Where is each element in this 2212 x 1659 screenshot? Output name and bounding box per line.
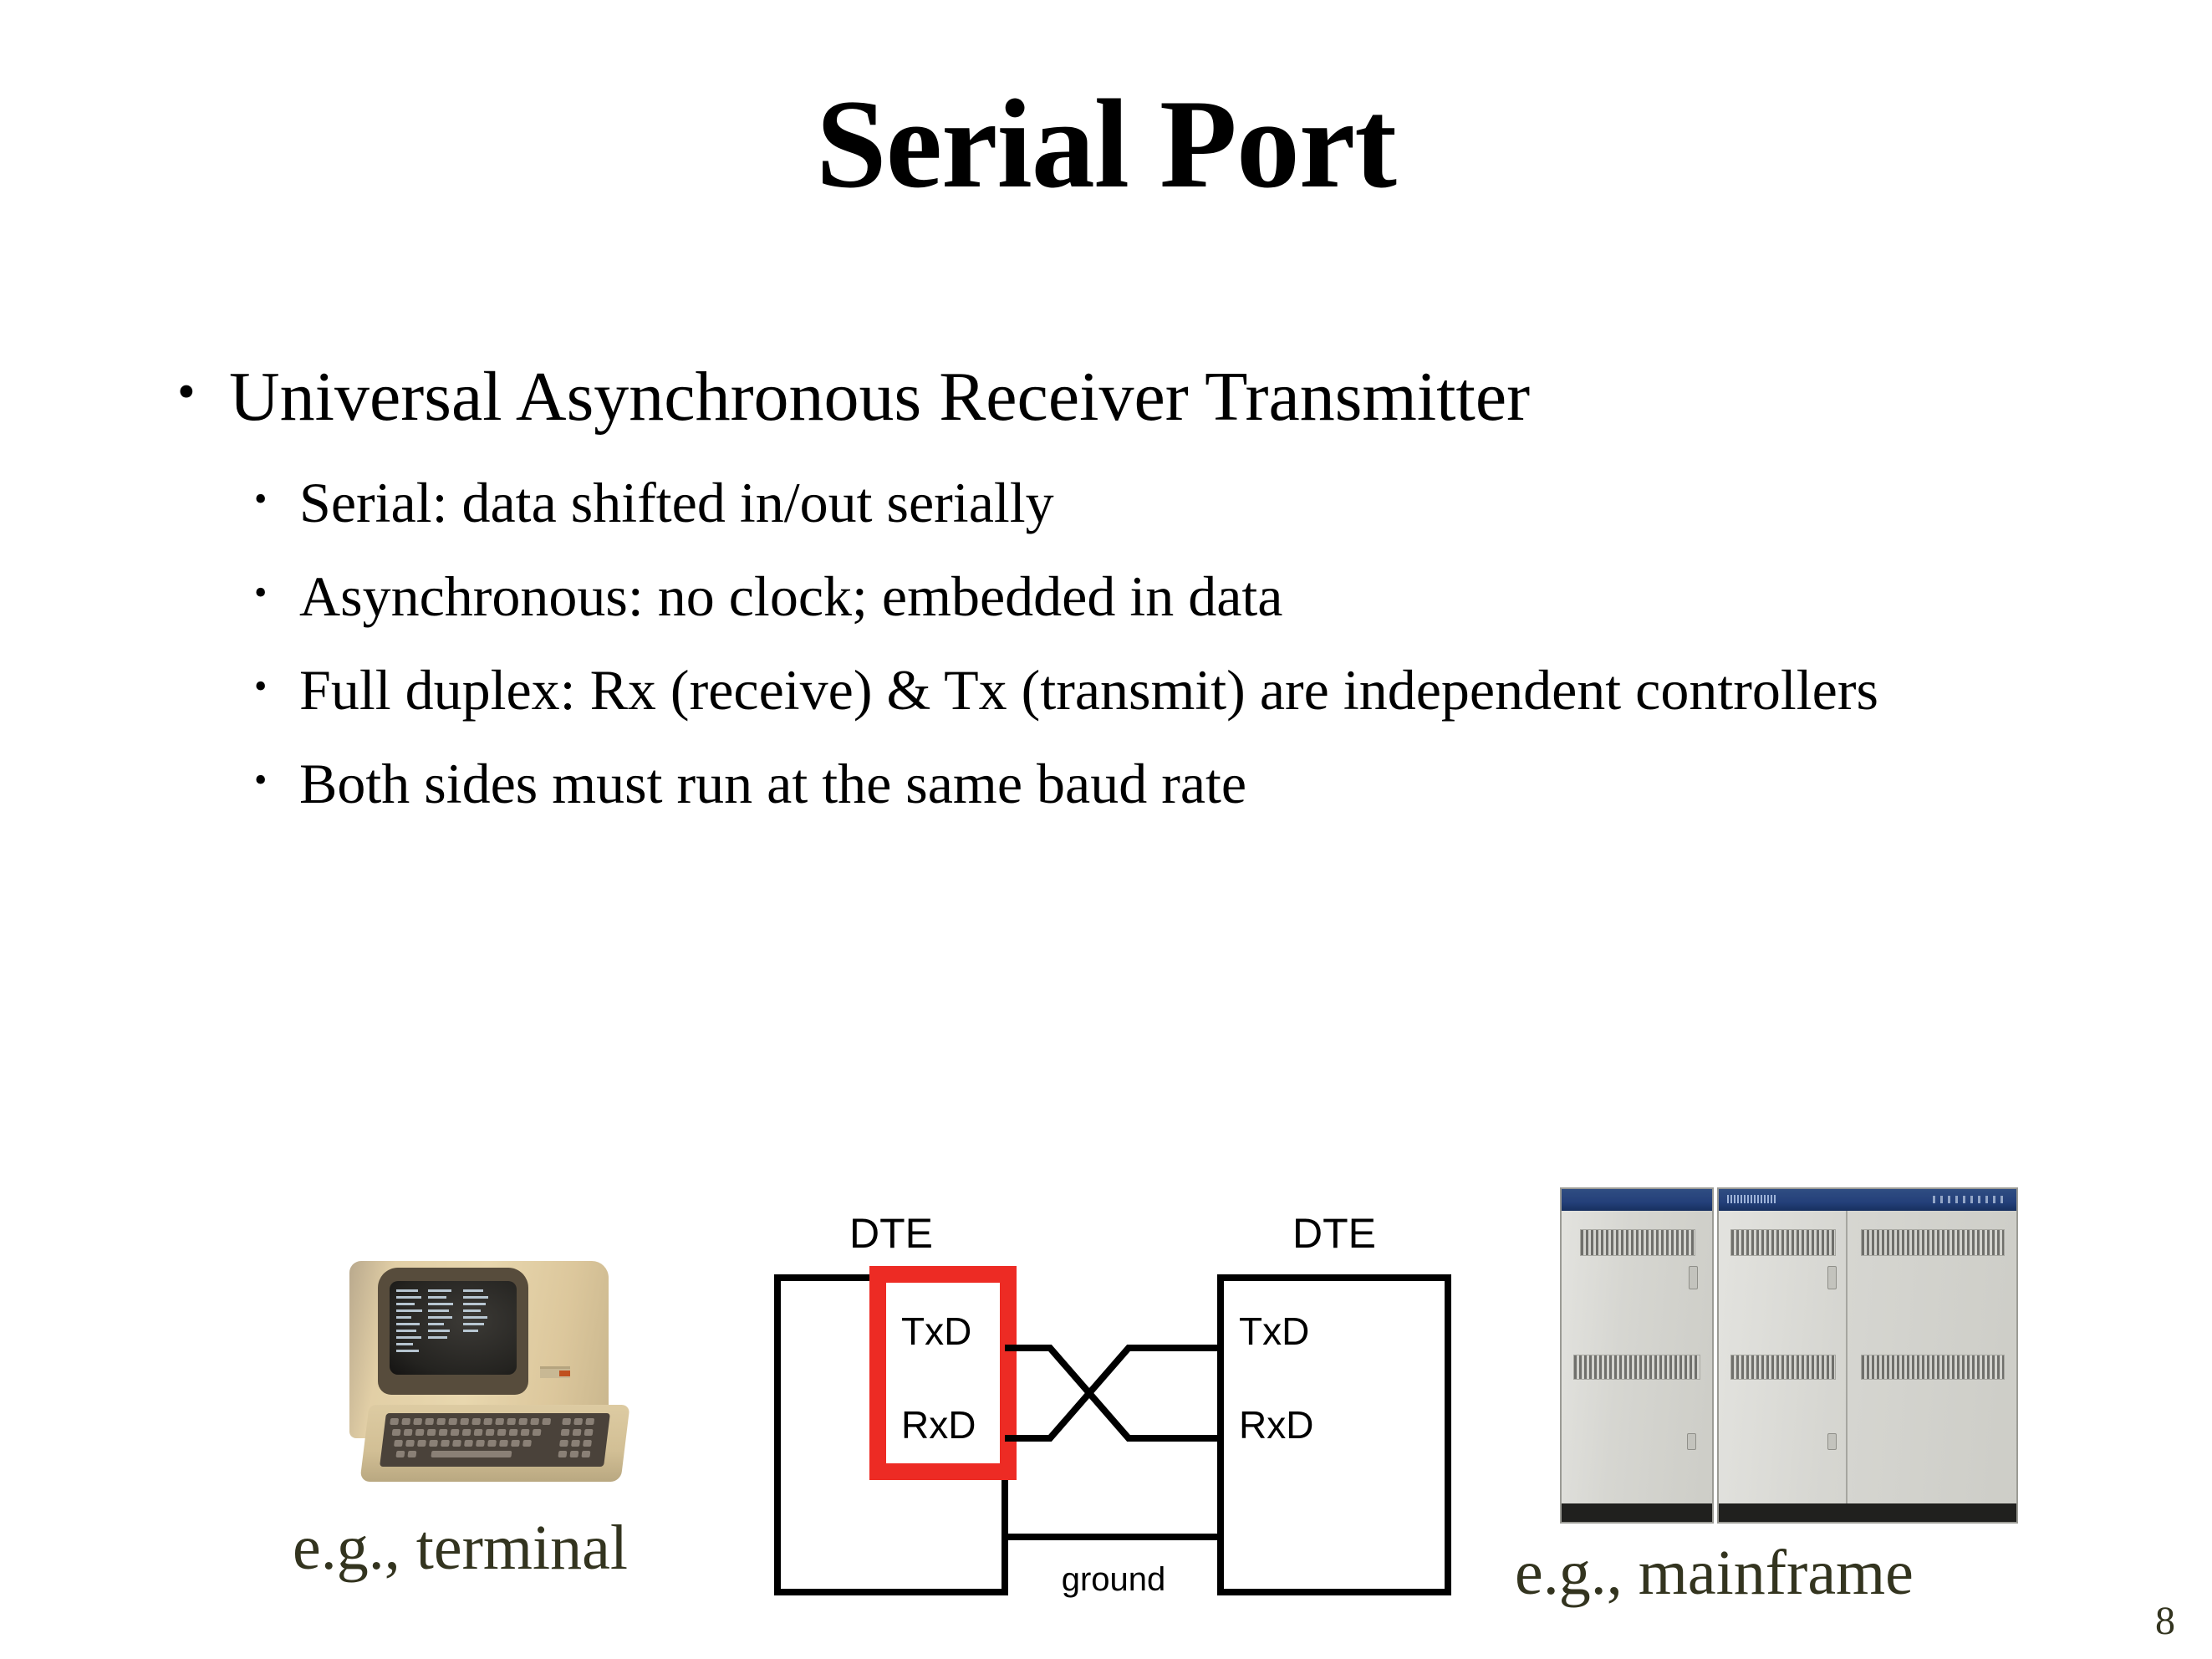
bullet-item-4: • Full duplex: Rx (receive) & Tx (transm…: [177, 658, 2117, 722]
page-title: Serial Port: [0, 80, 2212, 207]
diagram-left-rxd-label: RxD: [901, 1403, 976, 1447]
bullet-marker-icon: •: [254, 752, 299, 809]
bullet-list: • Universal Asynchronous Receiver Transm…: [177, 360, 2117, 845]
bullet-text: Both sides must run at the same baud rat…: [299, 752, 2117, 815]
terminal-keyboard: [380, 1413, 610, 1467]
bullet-text: Asynchronous: no clock; embedded in data: [299, 564, 2117, 628]
diagram-right-txd-label: TxD: [1239, 1309, 1309, 1353]
bullet-text: Universal Asynchronous Receiver Transmit…: [229, 360, 2117, 436]
bullet-item-1: • Universal Asynchronous Receiver Transm…: [177, 360, 2117, 436]
caption-terminal: e.g., terminal: [293, 1512, 628, 1585]
serial-connection-diagram: DTE DTE TxD RxD TxD RxD ground: [752, 1187, 1471, 1639]
terminal-image: [328, 1234, 662, 1510]
mainframe-base: [1562, 1503, 1712, 1522]
mainframe-door-handle: [1827, 1433, 1837, 1450]
page-number: 8: [2155, 1598, 2175, 1644]
mainframe-grille: [1861, 1229, 2005, 1256]
diagram-left-txd-label: TxD: [901, 1309, 971, 1353]
bullet-text: Full duplex: Rx (receive) & Tx (transmit…: [299, 658, 2117, 722]
mainframe-door-handle: [1827, 1266, 1837, 1289]
bullet-text: Serial: data shifted in/out serially: [299, 471, 2117, 534]
caption-mainframe: e.g., mainframe: [1515, 1537, 1914, 1610]
mainframe-grille: [1861, 1355, 2005, 1380]
status-leds: [1933, 1196, 2005, 1203]
mainframe-grille: [1730, 1355, 1836, 1380]
mainframe-cabinet-right: [1717, 1187, 2018, 1524]
mainframe-grille: [1580, 1229, 1695, 1256]
bullet-marker-icon: •: [177, 360, 229, 426]
diagram-left-box-title: DTE: [849, 1210, 933, 1257]
mainframe-door-handle: [1687, 1433, 1696, 1450]
terminal-screen: [390, 1281, 517, 1375]
bullet-item-5: • Both sides must run at the same baud r…: [177, 752, 2117, 815]
mainframe-top-panel: [1719, 1189, 2016, 1211]
diagram-right-rxd-label: RxD: [1239, 1403, 1313, 1447]
bullet-item-2: • Serial: data shifted in/out serially: [177, 471, 2117, 534]
diagram-right-box-title: DTE: [1292, 1210, 1376, 1257]
bullet-item-3: • Asynchronous: no clock; embedded in da…: [177, 564, 2117, 628]
mainframe-image: [1560, 1187, 2018, 1537]
mainframe-base: [1719, 1503, 2016, 1522]
bullet-marker-icon: •: [254, 658, 299, 715]
mainframe-door-handle: [1689, 1266, 1698, 1289]
diagram-ground-label: ground: [1062, 1561, 1166, 1598]
mainframe-grille: [1730, 1229, 1836, 1256]
mainframe-cabinet-left: [1560, 1187, 1714, 1524]
bullet-marker-icon: •: [254, 471, 299, 528]
mainframe-grille: [1573, 1355, 1700, 1380]
vendor-logo: [1727, 1195, 1776, 1203]
mainframe-door-split: [1846, 1211, 1848, 1503]
bullet-marker-icon: •: [254, 564, 299, 621]
terminal-logo-badge: [540, 1366, 570, 1378]
mainframe-top-panel: [1562, 1189, 1712, 1211]
